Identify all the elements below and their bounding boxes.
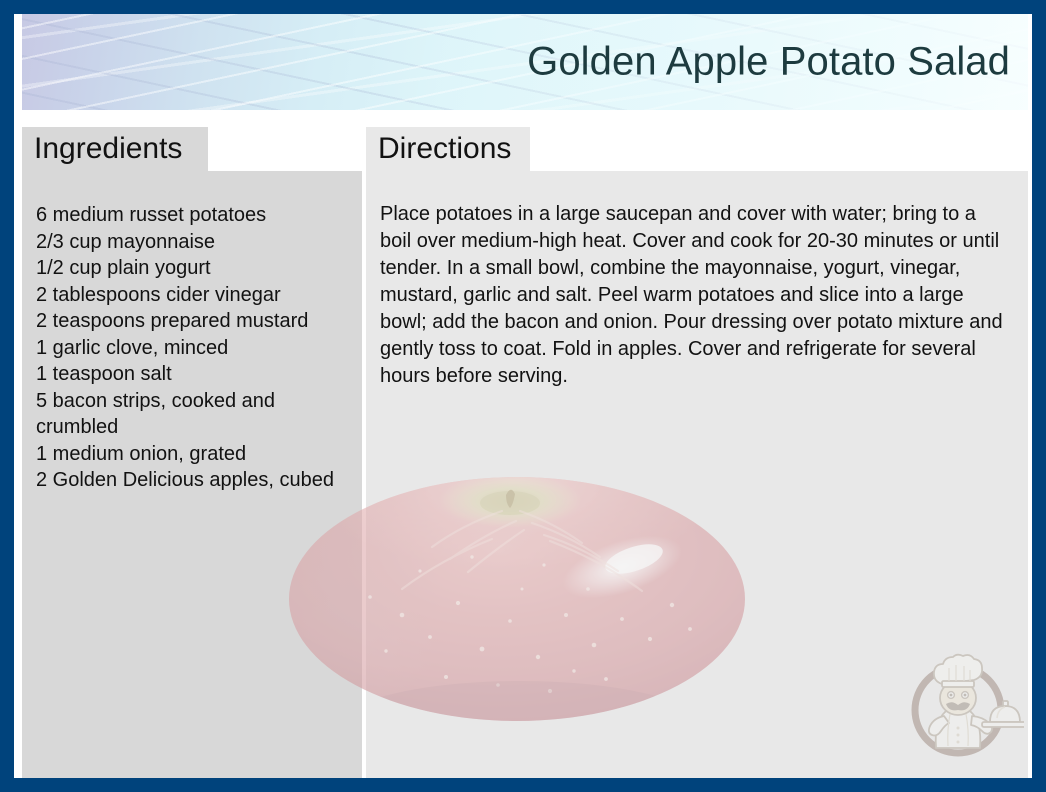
directions-heading-label: Directions <box>378 134 511 164</box>
ingredients-heading-label: Ingredients <box>34 134 182 164</box>
recipe-card: Golden Apple Potato Salad Ingredients Di… <box>0 0 1046 792</box>
ingredient-item: 2 teaspoons prepared mustard <box>36 308 356 335</box>
directions-panel: Place potatoes in a large saucepan and c… <box>366 171 1028 778</box>
ingredients-panel: 6 medium russet potatoes2/3 cup mayonnai… <box>22 171 362 778</box>
card-inner-surface: Golden Apple Potato Salad Ingredients Di… <box>14 14 1032 778</box>
ingredient-item: 5 bacon strips, cooked and crumbled <box>36 388 356 441</box>
directions-body-text: Place potatoes in a large saucepan and c… <box>380 201 1012 390</box>
page-title: Golden Apple Potato Salad <box>527 40 1010 85</box>
ingredient-item: 1/2 cup plain yogurt <box>36 255 356 282</box>
ingredient-item: 2 Golden Delicious apples, cubed <box>36 467 356 494</box>
ingredient-item: 1 teaspoon salt <box>36 361 356 388</box>
ingredients-list: 6 medium russet potatoes2/3 cup mayonnai… <box>22 202 362 494</box>
ingredient-item: 2/3 cup mayonnaise <box>36 229 356 256</box>
ingredient-item: 1 medium onion, grated <box>36 441 356 468</box>
ingredient-item: 1 garlic clove, minced <box>36 335 356 362</box>
ingredient-item: 2 tablespoons cider vinegar <box>36 282 356 309</box>
header-banner: Golden Apple Potato Salad <box>22 14 1028 110</box>
ingredient-item: 6 medium russet potatoes <box>36 202 356 229</box>
section-header-directions: Directions <box>366 127 530 171</box>
section-header-ingredients: Ingredients <box>22 127 208 171</box>
